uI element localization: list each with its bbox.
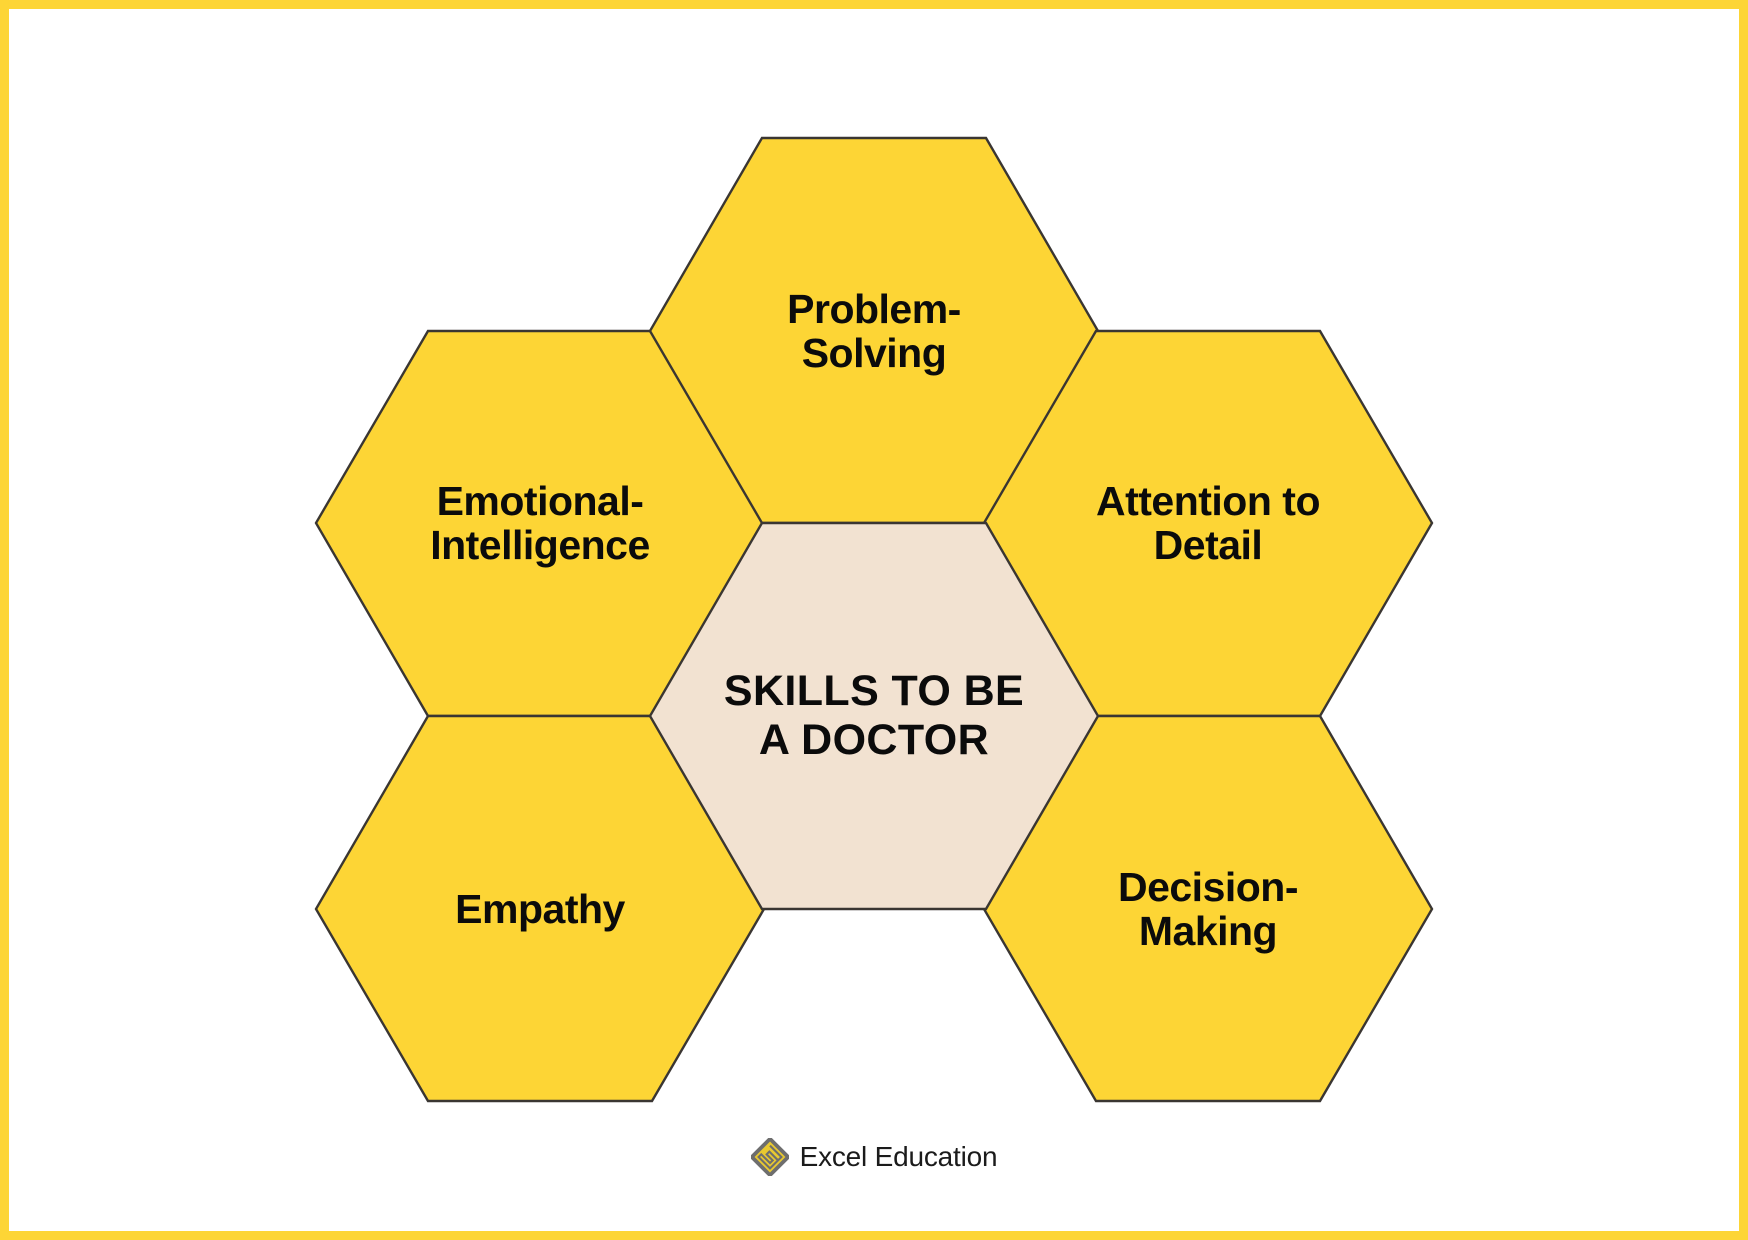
footer-brand: Excel Education (0, 1138, 1748, 1176)
infographic-page: Emotional- Intelligence Problem- Solving… (0, 0, 1748, 1240)
brand-name: Excel Education (800, 1143, 998, 1171)
excel-education-diamond-logo-icon (751, 1138, 789, 1176)
honeycomb-diagram (0, 0, 1748, 1240)
